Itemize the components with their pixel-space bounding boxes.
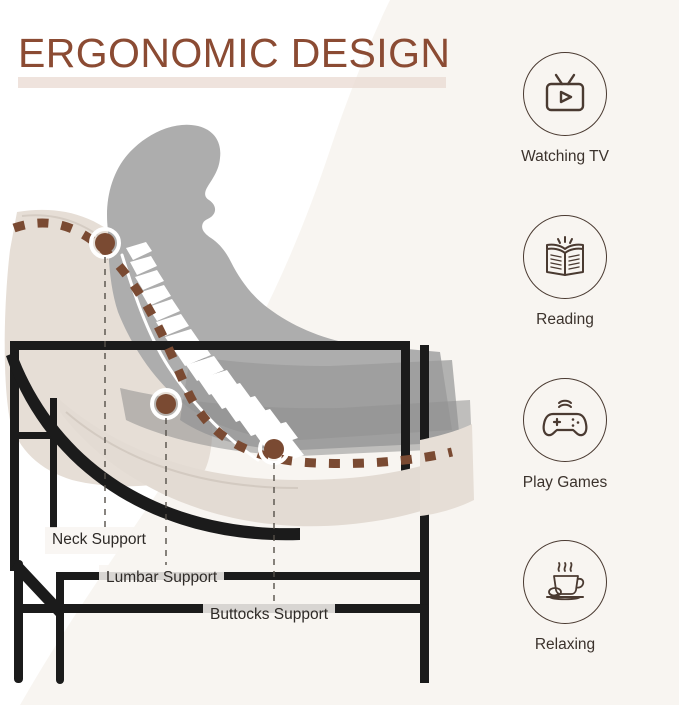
television-icon <box>539 71 591 117</box>
callout-lumbar-support: Lumbar Support <box>99 565 224 592</box>
feature-label-reading: Reading <box>505 312 625 328</box>
coffee-cup-icon <box>538 559 592 605</box>
feature-label-watching-tv: Watching TV <box>505 149 625 165</box>
feature-play-games[interactable]: Play Games <box>505 378 625 491</box>
feature-circle-relaxing <box>523 540 607 624</box>
game-controller-icon <box>538 397 592 443</box>
feature-label-play-games: Play Games <box>505 475 625 491</box>
feature-watching-tv[interactable]: Watching TV <box>505 52 625 165</box>
feature-circle-play-games <box>523 378 607 462</box>
marker-neck <box>91 229 119 257</box>
marker-buttocks <box>260 435 288 463</box>
feature-label-relaxing: Relaxing <box>505 637 625 653</box>
open-book-icon <box>539 234 591 280</box>
callout-buttocks-support: Buttocks Support <box>203 602 335 629</box>
feature-circle-watching-tv <box>523 52 607 136</box>
marker-lumbar <box>152 390 180 418</box>
callout-neck-support: Neck Support <box>45 527 153 554</box>
infographic-canvas: ERGONOMIC DESIGN <box>0 0 679 705</box>
feature-relaxing[interactable]: Relaxing <box>505 540 625 653</box>
feature-reading[interactable]: Reading <box>505 215 625 328</box>
feature-circle-reading <box>523 215 607 299</box>
chair-illustration <box>0 0 500 705</box>
